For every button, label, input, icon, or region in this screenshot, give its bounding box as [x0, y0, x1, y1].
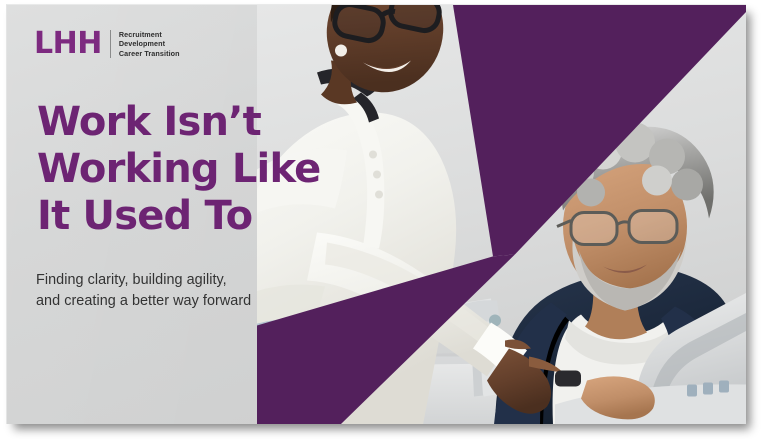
logo-tagline-line-3: Career Transition	[119, 49, 180, 58]
slide-card: LHH Recruitment Development Career Trans…	[6, 4, 746, 424]
subtitle-line-1: Finding clarity, building agility,	[36, 270, 336, 291]
slide-subtitle: Finding clarity, building agility, and c…	[36, 270, 336, 311]
logo-tagline-line-2: Development	[119, 39, 180, 48]
headline-line-3: It Used To	[37, 193, 357, 240]
logo-wordmark: LHH	[34, 29, 102, 59]
slide-headline: Work Isn’t Working Like It Used To	[37, 99, 357, 240]
headline-line-2: Working Like	[37, 146, 357, 193]
subtitle-line-2: and creating a better way forward	[36, 291, 336, 312]
logo-tagline-line-1: Recruitment	[119, 30, 180, 39]
logo-tagline: Recruitment Development Career Transitio…	[119, 30, 180, 58]
headline-line-1: Work Isn’t	[37, 99, 357, 146]
lhh-logo[interactable]: LHH Recruitment Development Career Trans…	[34, 29, 180, 59]
logo-divider-icon	[110, 30, 111, 58]
slide-root: LHH Recruitment Development Career Trans…	[0, 0, 780, 439]
